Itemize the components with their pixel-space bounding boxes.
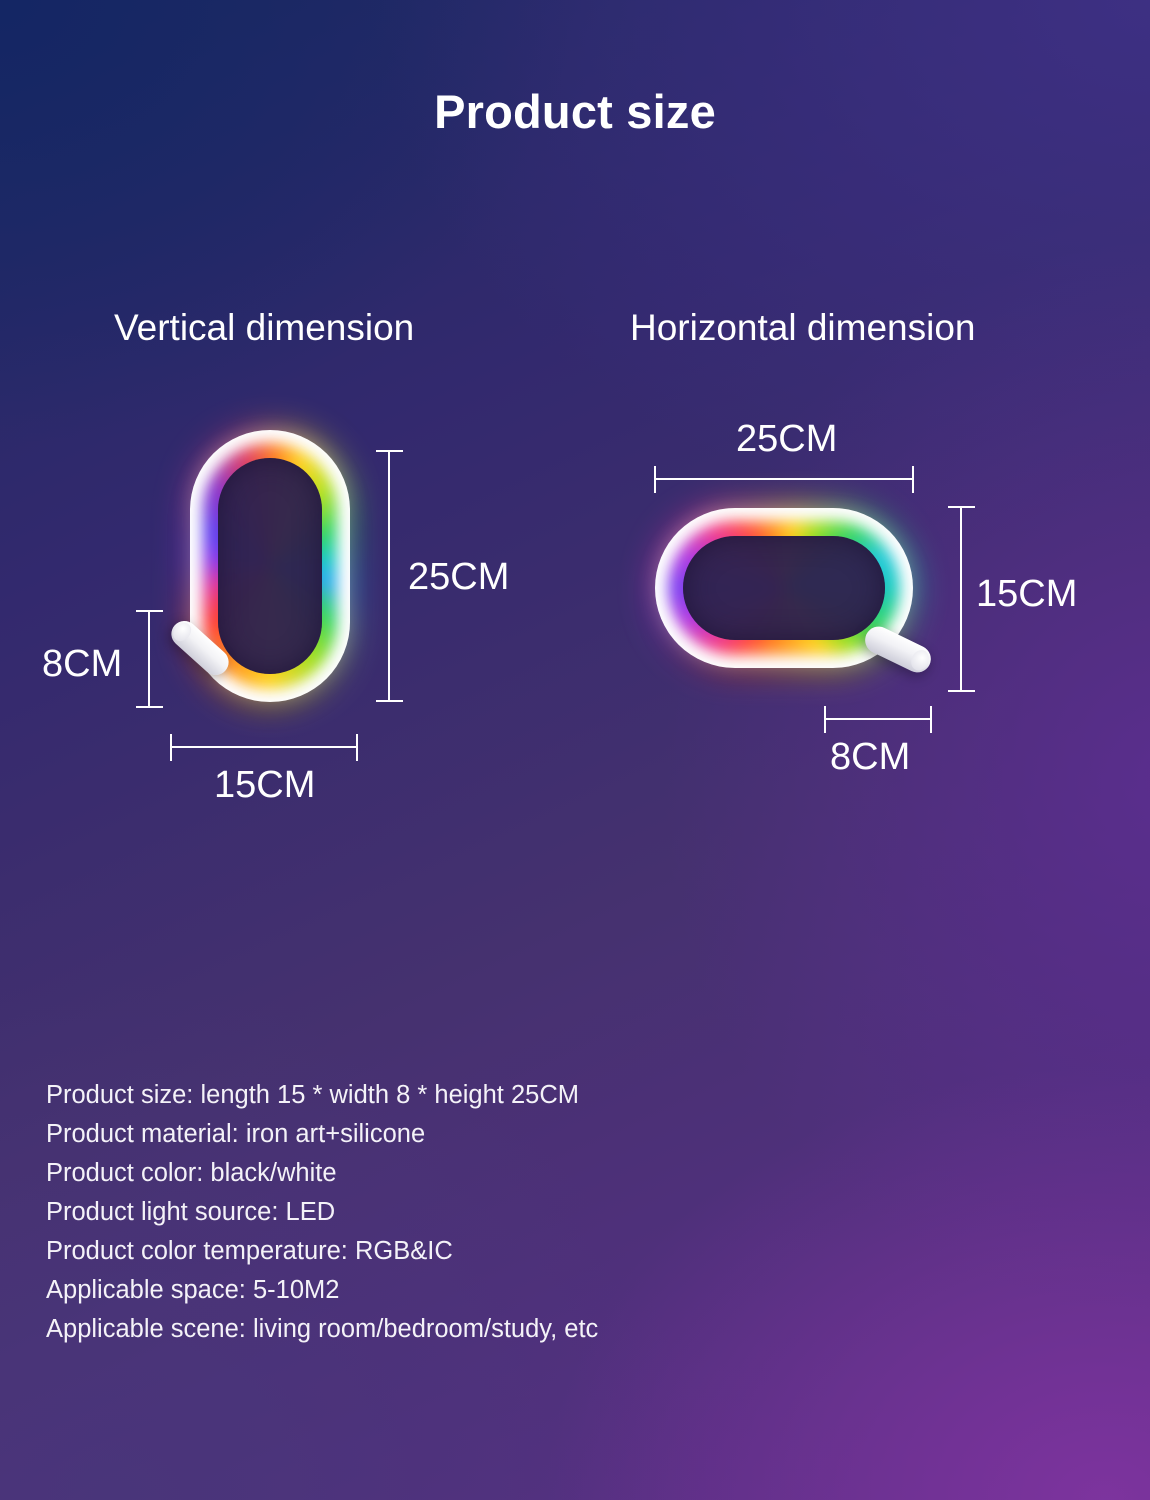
horizontal-lamp-illustration [655,508,913,668]
dimension-line-horizontal-length [656,478,912,480]
product-size-infographic: Product size Vertical dimension Horizont… [0,0,1150,1500]
section-label-vertical: Vertical dimension [114,307,414,349]
vertical-lamp-inner-cavity [218,458,322,674]
horizontal-lamp-inner-cavity [683,536,885,640]
dimension-line-vertical-width [172,746,356,748]
dimension-label-vertical-width: 15CM [214,764,315,807]
dimension-line-horizontal-depth [826,718,930,720]
dimension-label-vertical-depth: 8CM [42,643,122,686]
dimension-line-vertical-height [388,452,390,700]
spec-line: Product size: length 15 * width 8 * heig… [46,1076,946,1115]
section-label-horizontal: Horizontal dimension [630,307,976,349]
spec-line: Product light source: LED [46,1193,946,1232]
spec-line: Applicable scene: living room/bedroom/st… [46,1310,946,1349]
dimension-label-vertical-height: 25CM [408,556,509,599]
spec-line: Product color: black/white [46,1154,946,1193]
dimension-line-horizontal-height [960,508,962,690]
dimension-label-horizontal-length: 25CM [736,418,837,461]
vertical-lamp-illustration [190,430,350,702]
page-title: Product size [0,84,1150,139]
dimension-label-horizontal-depth: 8CM [830,736,910,779]
spec-line: Applicable space: 5-10M2 [46,1271,946,1310]
product-spec-list: Product size: length 15 * width 8 * heig… [46,1076,946,1349]
dimension-line-vertical-depth [148,612,150,706]
spec-line: Product color temperature: RGB&IC [46,1232,946,1271]
spec-line: Product material: iron art+silicone [46,1115,946,1154]
dimension-label-horizontal-height: 15CM [976,573,1077,616]
